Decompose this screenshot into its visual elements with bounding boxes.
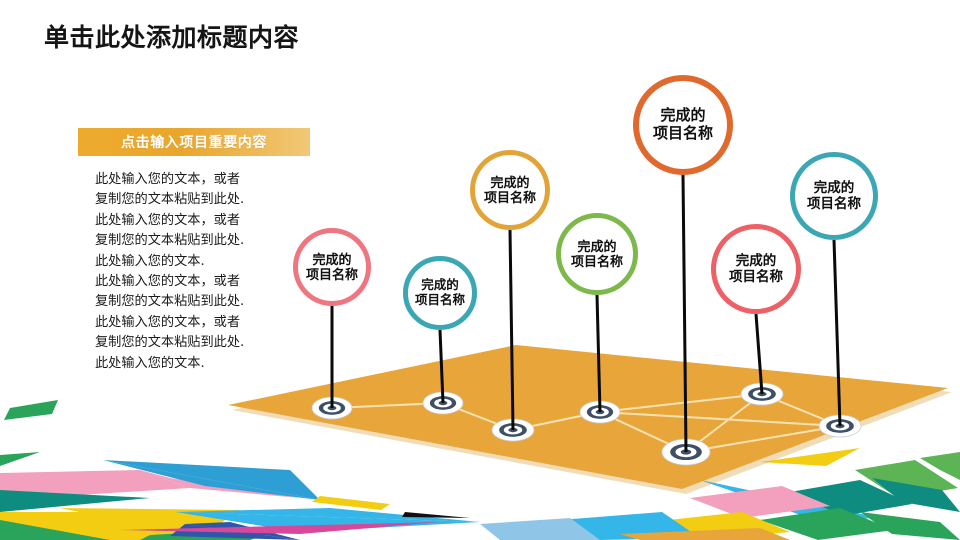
bubble-line-2: 项目名称 — [415, 293, 465, 308]
bubble-7[interactable]: 完成的项目名称 — [790, 152, 878, 240]
bubble-4[interactable]: 完成的项目名称 — [556, 213, 638, 295]
bubble-line-2: 项目名称 — [729, 269, 783, 285]
bubble-6[interactable]: 完成的项目名称 — [711, 224, 801, 314]
slide-canvas: 单击此处添加标题内容 点击输入项目重要内容 此处输入您的文本，或者 复制您的文本… — [0, 0, 960, 540]
bubble-3[interactable]: 完成的项目名称 — [470, 150, 550, 230]
bubble-2[interactable]: 完成的项目名称 — [403, 256, 477, 330]
bubble-line-1: 完成的 — [814, 180, 855, 196]
body-paragraph: 此处输入您的文本，或者 复制您的文本粘贴到此处. 此处输入您的文本，或者 复制您… — [95, 170, 325, 374]
bubble-line-1: 完成的 — [490, 175, 529, 190]
page-title: 单击此处添加标题内容 — [44, 18, 299, 54]
bubble-line-1: 完成的 — [736, 253, 777, 269]
bubble-line-2: 项目名称 — [484, 190, 536, 205]
bubble-line-1: 完成的 — [577, 239, 616, 254]
section-banner-label: 点击输入项目重要内容 — [78, 128, 310, 156]
section-banner[interactable]: 点击输入项目重要内容 — [78, 128, 310, 156]
bubble-5[interactable]: 完成的项目名称 — [633, 75, 733, 175]
bubble-line-1: 完成的 — [660, 107, 705, 125]
bubble-line-2: 项目名称 — [807, 196, 861, 212]
bubble-line-2: 项目名称 — [653, 125, 713, 143]
bubble-line-2: 项目名称 — [571, 254, 623, 269]
bubble-line-1: 完成的 — [421, 278, 459, 293]
